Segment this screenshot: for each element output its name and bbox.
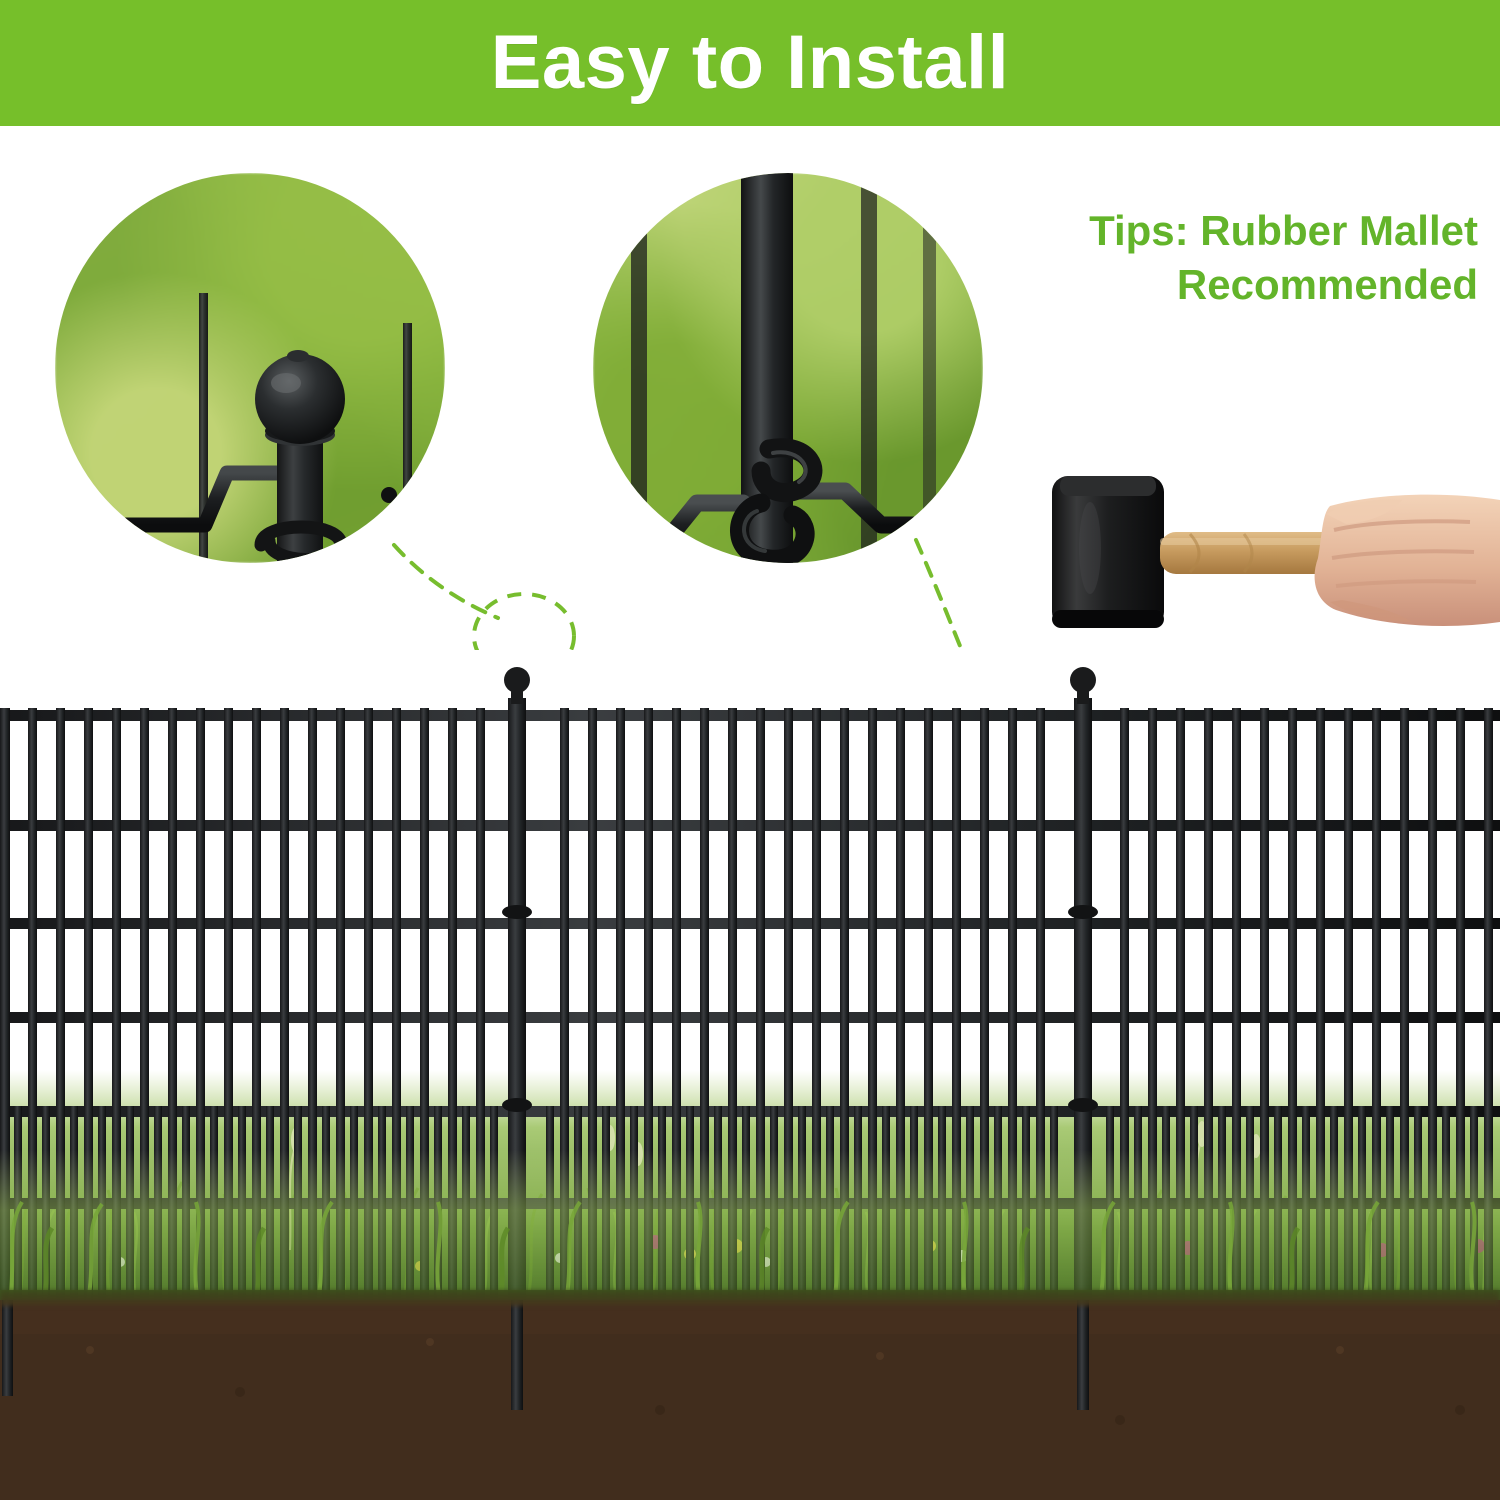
inset-s-hook-connector xyxy=(593,173,983,563)
tips-text: Tips: Rubber Mallet Recommended xyxy=(1000,204,1478,312)
product-infographic: Easy to Install Tips: Rubber Mallet Reco… xyxy=(0,0,1500,1500)
fence-and-garden-illustration xyxy=(0,650,1500,1500)
inset-post-ball-cap xyxy=(55,173,445,563)
s-hook-illustration xyxy=(593,173,983,563)
page-title: Easy to Install xyxy=(491,25,1010,101)
hand-grip xyxy=(1315,495,1500,626)
panel-connector-hook-1 xyxy=(502,905,532,919)
product-photo xyxy=(0,650,1500,1500)
panel-connector-hook-2 xyxy=(1068,905,1098,919)
rubber-mallet-in-hand xyxy=(1030,440,1500,670)
grass-foreground xyxy=(0,1150,1500,1304)
tips-line-2: Recommended xyxy=(1000,258,1478,312)
mallet-head xyxy=(1052,476,1164,628)
tips-line-1: Tips: Rubber Mallet xyxy=(1089,207,1478,254)
post-ball-cap-illustration xyxy=(55,173,445,563)
soil-grass-edge xyxy=(0,1290,1500,1306)
header-banner: Easy to Install xyxy=(0,0,1500,126)
